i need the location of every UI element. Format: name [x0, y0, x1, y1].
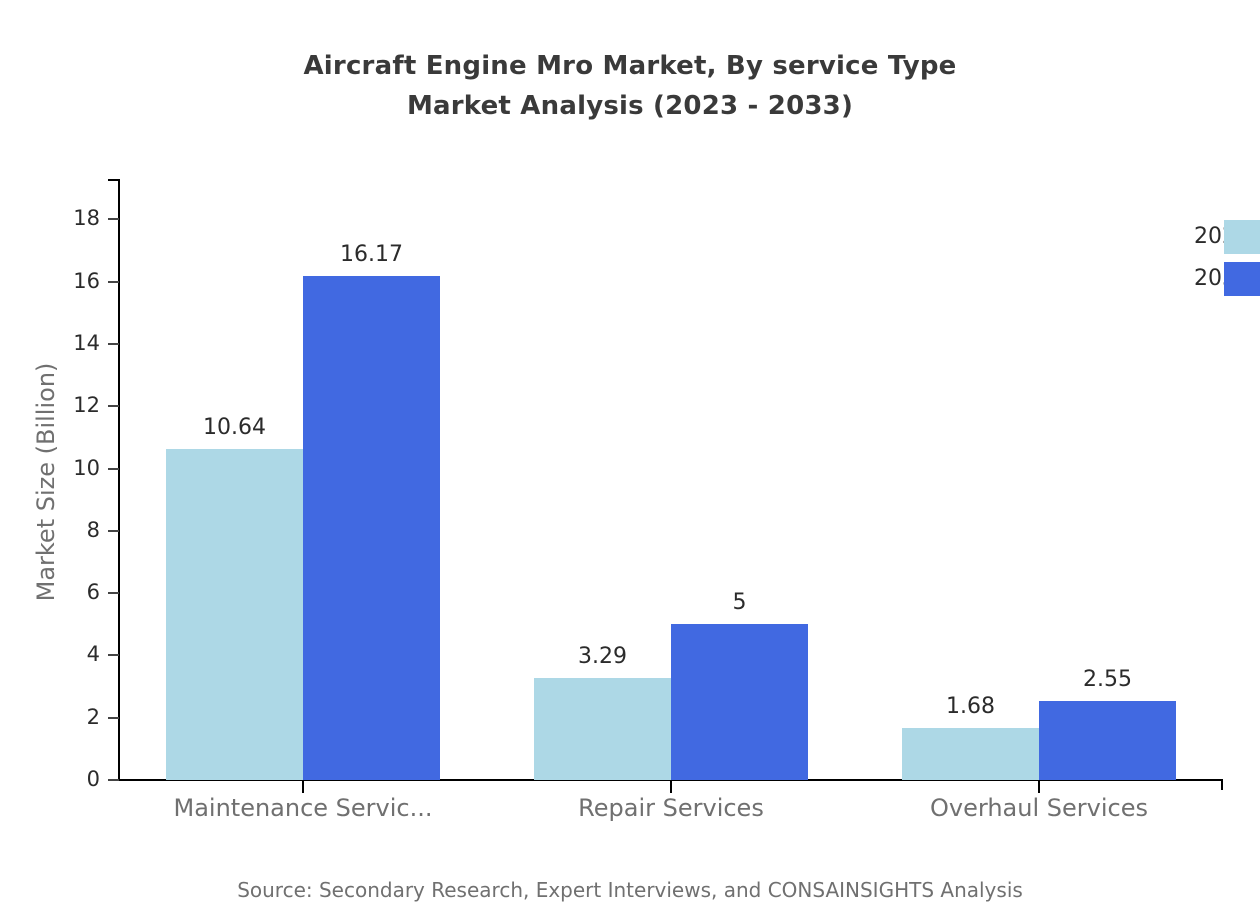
y-axis-tick: [108, 530, 119, 532]
chart-title-line-1: Aircraft Engine Mro Market, By service T…: [0, 46, 1260, 86]
bar[interactable]: [1039, 701, 1176, 780]
y-axis-tick: [108, 343, 119, 345]
chart-title-line-2: Market Analysis (2023 - 2033): [0, 86, 1260, 126]
y-axis-tick: [108, 779, 119, 781]
x-axis-tick: [302, 781, 304, 793]
x-axis-category-label[interactable]: Overhaul Services: [839, 793, 1239, 823]
y-axis-tick: [108, 405, 119, 407]
y-axis-top-cap: [108, 179, 119, 181]
y-axis-tick: [108, 717, 119, 719]
y-axis-tick-label: 12: [40, 395, 100, 416]
legend-color-swatch: [1224, 262, 1260, 296]
y-axis-tick-label: 0: [40, 769, 100, 790]
y-axis-tick-label: 8: [40, 520, 100, 541]
y-axis-tick-label: 6: [40, 582, 100, 603]
bar-value-label: 2.55: [1009, 669, 1206, 691]
bar[interactable]: [303, 276, 440, 780]
y-axis-tick-label: 2: [40, 707, 100, 728]
y-axis-tick-label: 14: [40, 333, 100, 354]
legend-item[interactable]: 2023: [0, 220, 1260, 254]
y-axis-tick: [108, 592, 119, 594]
x-axis-tick: [1038, 781, 1040, 793]
bar-value-label: 5: [641, 592, 838, 614]
y-axis-tick-label: 4: [40, 644, 100, 665]
x-axis-category-label[interactable]: Maintenance Servic...: [103, 793, 503, 823]
legend-item[interactable]: 2033: [0, 262, 1260, 296]
y-axis-tick-label: 10: [40, 458, 100, 479]
bar-chart-figure: Aircraft Engine Mro Market, By service T…: [0, 0, 1260, 920]
x-axis-category-label[interactable]: Repair Services: [471, 793, 871, 823]
chart-title: Aircraft Engine Mro Market, By service T…: [0, 46, 1260, 126]
bar[interactable]: [534, 678, 671, 780]
y-axis-tick: [108, 654, 119, 656]
source-note: Source: Secondary Research, Expert Inter…: [0, 876, 1260, 904]
y-axis-tick: [108, 468, 119, 470]
x-axis-tick: [670, 781, 672, 793]
bar[interactable]: [166, 449, 303, 780]
legend-color-swatch: [1224, 220, 1260, 254]
bar[interactable]: [902, 728, 1039, 780]
x-axis-right-cap: [1221, 779, 1223, 790]
bar[interactable]: [671, 624, 808, 780]
